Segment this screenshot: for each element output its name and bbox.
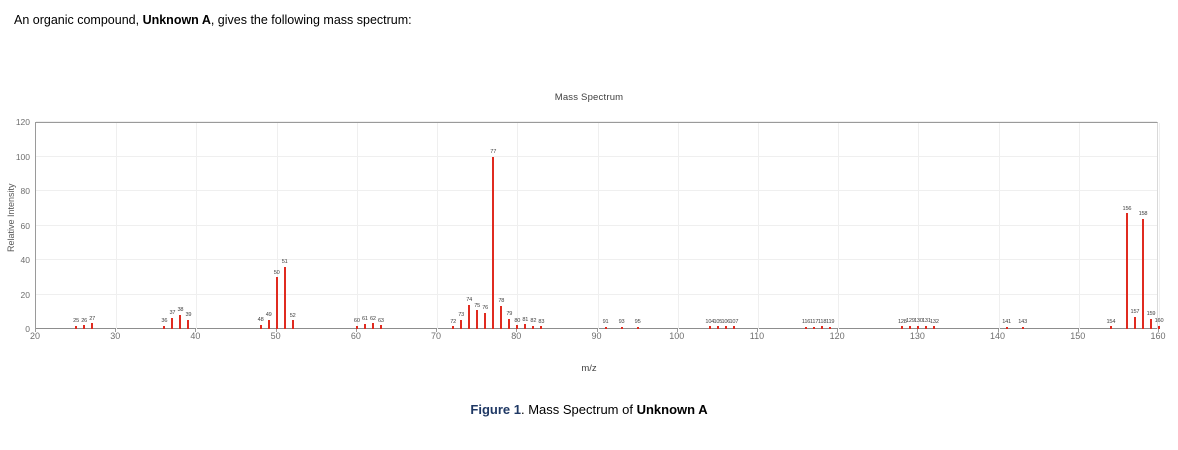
grid-line-vertical (918, 123, 919, 329)
spectrum-peak (187, 320, 189, 329)
peak-label: 50 (274, 270, 280, 276)
peak-label: 154 (1106, 319, 1115, 325)
grid-line-vertical (196, 123, 197, 329)
peak-label: 158 (1139, 211, 1148, 217)
peak-label: 81 (522, 317, 528, 323)
caption-bold-unknown: Unknown A (637, 402, 708, 417)
x-tick-label: 20 (30, 331, 40, 341)
peak-label: 39 (185, 312, 191, 318)
spectrum-peak (1134, 317, 1136, 329)
grid-line-vertical (357, 123, 358, 329)
x-tick-label: 30 (110, 331, 120, 341)
peak-label: 62 (370, 316, 376, 322)
y-axis: 020406080100120 (0, 122, 35, 329)
intro-suffix: , gives the following mass spectrum: (211, 13, 412, 27)
peak-label: 160 (1155, 318, 1164, 324)
grid-line-vertical (116, 123, 117, 329)
x-tick-label: 60 (351, 331, 361, 341)
spectrum-peak (508, 319, 510, 329)
spectrum-peak (179, 315, 181, 329)
peak-label: 49 (266, 312, 272, 318)
y-tick-label: 100 (0, 152, 30, 162)
grid-line-vertical (1079, 123, 1080, 329)
peak-label: 52 (290, 313, 296, 319)
spectrum-peak (460, 320, 462, 329)
peak-label: 51 (282, 259, 288, 265)
grid-line-horizontal (36, 121, 1157, 122)
x-tick-label: 40 (190, 331, 200, 341)
x-tick-label: 150 (1070, 331, 1085, 341)
plot-area: 2526273637383948495051526061626372737475… (35, 122, 1158, 329)
peak-label: 63 (378, 318, 384, 324)
x-tick-label: 110 (750, 331, 764, 341)
figure-caption: Figure 1. Mass Spectrum of Unknown A (0, 402, 1178, 417)
spectrum-peak (468, 305, 470, 329)
x-axis: 2030405060708090100110120130140150160 (35, 329, 1158, 351)
figure-number: Figure 1 (470, 402, 521, 417)
peak-label: 82 (530, 318, 536, 324)
x-tick-label: 80 (511, 331, 521, 341)
spectrum-peak (500, 306, 502, 329)
y-tick-label: 60 (0, 221, 30, 231)
grid-line-horizontal (36, 294, 1157, 295)
y-tick-label: 20 (0, 290, 30, 300)
peak-label: 73 (458, 312, 464, 318)
spectrum-peak (1150, 319, 1152, 329)
peak-label: 159 (1147, 311, 1156, 317)
peak-label: 95 (635, 319, 641, 325)
peak-label: 80 (514, 318, 520, 324)
x-tick-label: 100 (669, 331, 684, 341)
y-tick-label: 0 (0, 324, 30, 334)
mass-spectrum-chart: Mass Spectrum Relative Intensity 0204060… (0, 82, 1178, 382)
peak-label: 107 (729, 319, 738, 325)
spectrum-peak (171, 318, 173, 329)
peak-label: 79 (506, 311, 512, 317)
y-tick-label: 120 (0, 117, 30, 127)
spectrum-peak (476, 310, 478, 329)
peak-label: 27 (89, 316, 95, 322)
spectrum-peak (268, 320, 270, 329)
x-tick-label: 90 (591, 331, 601, 341)
spectrum-peak (1142, 219, 1144, 329)
spectrum-peak (284, 267, 286, 329)
x-axis-label: m/z (0, 363, 1178, 374)
grid-line-vertical (1159, 123, 1160, 329)
peak-label: 72 (450, 319, 456, 325)
chart-title: Mass Spectrum (0, 92, 1178, 103)
grid-line-vertical (517, 123, 518, 329)
peak-label: 61 (362, 316, 368, 322)
grid-line-vertical (598, 123, 599, 329)
x-tick-label: 120 (830, 331, 845, 341)
peak-label: 156 (1123, 206, 1132, 212)
grid-line-vertical (999, 123, 1000, 329)
grid-line-horizontal (36, 259, 1157, 260)
peak-label: 83 (538, 319, 544, 325)
peak-label: 141 (1002, 319, 1011, 325)
peak-label: 157 (1131, 309, 1140, 315)
peak-label: 25 (73, 318, 79, 324)
peak-label: 75 (474, 303, 480, 309)
peak-label: 78 (498, 298, 504, 304)
x-tick-label: 130 (910, 331, 925, 341)
x-tick-label: 70 (431, 331, 441, 341)
intro-prefix: An organic compound, (14, 13, 143, 27)
peak-label: 143 (1018, 319, 1027, 325)
peak-label: 132 (930, 319, 939, 325)
intro-bold-unknown: Unknown A (143, 13, 211, 27)
peak-label: 26 (81, 318, 87, 324)
spectrum-peak (484, 313, 486, 329)
spectrum-peak (276, 277, 278, 329)
peak-label: 93 (619, 319, 625, 325)
caption-middle: . Mass Spectrum of (521, 402, 637, 417)
x-tick-label: 160 (1150, 331, 1165, 341)
grid-line-vertical (838, 123, 839, 329)
peak-label: 91 (603, 319, 609, 325)
peak-label: 37 (169, 310, 175, 316)
peak-label: 38 (177, 307, 183, 313)
peak-label: 77 (490, 149, 496, 155)
grid-line-vertical (758, 123, 759, 329)
peak-label: 60 (354, 318, 360, 324)
x-tick-label: 140 (990, 331, 1005, 341)
peak-label: 48 (258, 317, 264, 323)
y-tick-label: 80 (0, 186, 30, 196)
peak-label: 76 (482, 305, 488, 311)
grid-line-horizontal (36, 190, 1157, 191)
intro-text: An organic compound, Unknown A, gives th… (14, 12, 412, 30)
peak-label: 119 (826, 319, 834, 325)
grid-line-horizontal (36, 156, 1157, 157)
spectrum-peak (292, 320, 294, 329)
peak-label: 74 (466, 297, 472, 303)
grid-line-vertical (437, 123, 438, 329)
grid-line-horizontal (36, 225, 1157, 226)
spectrum-peak (1126, 213, 1128, 329)
x-tick-label: 50 (271, 331, 281, 341)
y-tick-label: 40 (0, 255, 30, 265)
grid-line-vertical (678, 123, 679, 329)
peak-label: 36 (161, 318, 167, 324)
spectrum-peak (492, 157, 494, 330)
